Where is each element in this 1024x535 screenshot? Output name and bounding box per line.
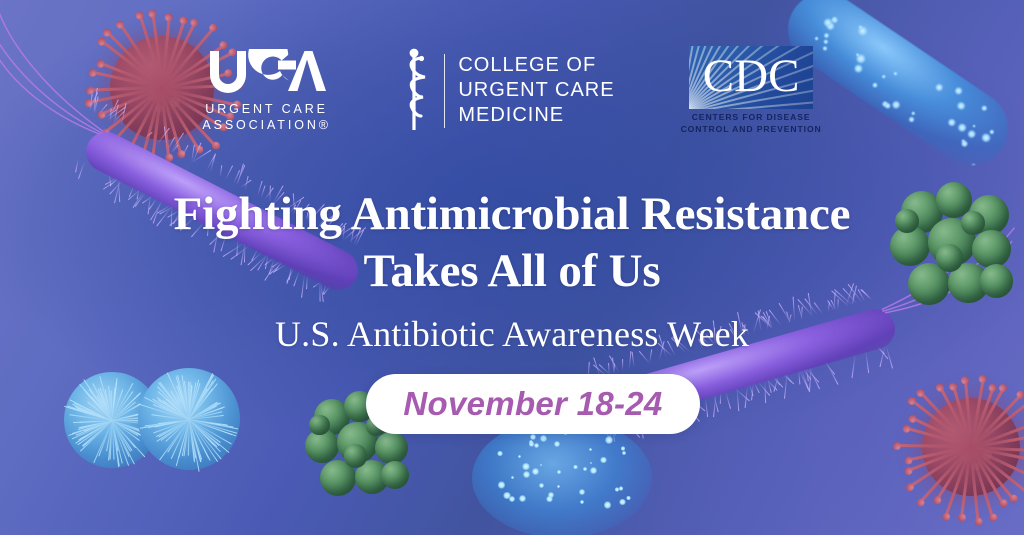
logo-cdc: CDC CENTERS FOR DISEASE CONTROL AND PREV… [681, 46, 822, 135]
headline-line-1: Fighting Antimicrobial Resistance [0, 186, 1024, 243]
page-subtitle: U.S. Antibiotic Awareness Week [0, 312, 1024, 356]
date-badge-label: November 18-24 [403, 385, 662, 423]
logo-bar: URGENT CARE ASSOCIATION® COLLEGE OF URGE… [0, 46, 1024, 135]
cdc-subtitle: CENTERS FOR DISEASE CONTROL AND PREVENTI… [681, 112, 822, 135]
uca-line-2: ASSOCIATION® [202, 117, 331, 133]
cdc-letters: CDC [689, 46, 813, 109]
uca-line-1: URGENT CARE [205, 101, 328, 117]
uca-monogram-icon [208, 49, 326, 93]
cdc-subtitle-line-1: CENTERS FOR DISEASE [681, 112, 822, 124]
page-title: Fighting Antimicrobial Resistance Takes … [0, 186, 1024, 300]
logo-divider-rule [444, 54, 446, 128]
logo-college-of-urgent-care-medicine: COLLEGE OF URGENT CARE MEDICINE [397, 48, 615, 134]
date-badge: November 18-24 [366, 374, 700, 434]
cucm-line-2: URGENT CARE [458, 78, 614, 103]
cucm-line-1: COLLEGE OF [458, 53, 614, 78]
rod-of-asclepius-icon [397, 48, 431, 134]
cdc-logo-box: CDC [689, 46, 813, 109]
cdc-subtitle-line-2: CONTROL AND PREVENTION [681, 124, 822, 136]
logo-urgent-care-association: URGENT CARE ASSOCIATION® [202, 49, 331, 133]
headline-line-2: Takes All of Us [0, 243, 1024, 300]
cucm-wordmark: COLLEGE OF URGENT CARE MEDICINE [458, 53, 614, 128]
poster-canvas: URGENT CARE ASSOCIATION® COLLEGE OF URGE… [0, 0, 1024, 535]
cucm-line-3: MEDICINE [458, 103, 614, 128]
